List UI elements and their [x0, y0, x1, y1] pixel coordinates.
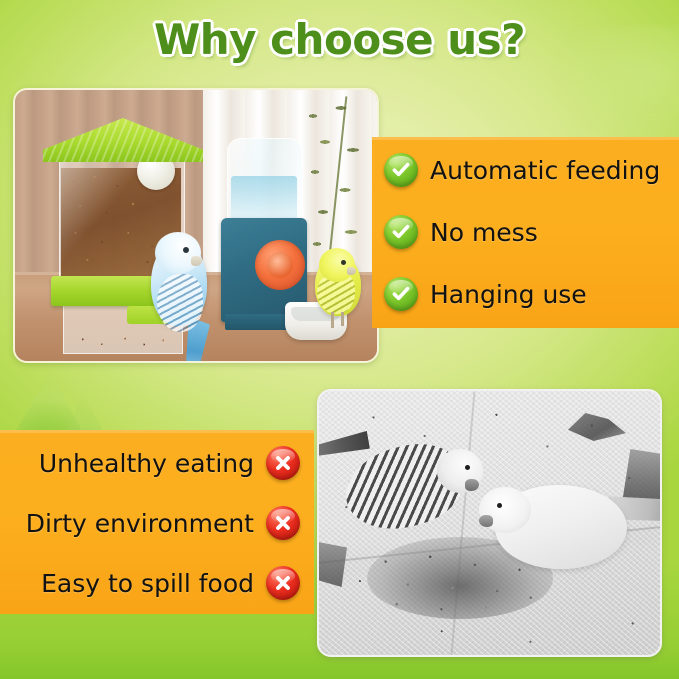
- benefit-label: No mess: [430, 218, 538, 247]
- drawback-row-dirty-environment: Dirty environment: [26, 506, 300, 540]
- white-budgie-eye: [497, 503, 502, 508]
- benefit-label: Hanging use: [430, 280, 587, 309]
- yellow-budgie-leg: [331, 312, 334, 328]
- water-dispenser-valve: [255, 240, 305, 290]
- blue-budgie-head: [155, 232, 201, 274]
- check-circle-icon: [384, 277, 418, 311]
- drawback-label: Easy to spill food: [41, 569, 254, 598]
- benefit-row-hanging-use: Hanging use: [384, 277, 587, 311]
- product-photo: [13, 88, 379, 363]
- drawbacks-panel: Unhealthy eating Dirty environment Easy …: [0, 430, 314, 614]
- striped-budgie-eye: [465, 465, 470, 470]
- vine-leaves-decoration: [297, 94, 373, 264]
- spilled-seed-photo: [317, 389, 662, 657]
- drawback-row-easy-to-spill-food: Easy to spill food: [41, 566, 300, 600]
- infographic-poster: Why choose us?: [0, 0, 679, 679]
- blue-budgie-eye: [183, 247, 189, 253]
- debris-left-edge: [317, 541, 347, 587]
- benefit-row-no-mess: No mess: [384, 215, 538, 249]
- blue-budgie-wing: [157, 274, 203, 332]
- drawback-row-unhealthy-eating: Unhealthy eating: [39, 446, 300, 480]
- yellow-budgie-eye: [341, 260, 346, 265]
- check-circle-icon: [384, 153, 418, 187]
- panel-top-highlight: [372, 137, 679, 140]
- cross-circle-icon: [266, 506, 300, 540]
- drawback-label: Dirty environment: [26, 509, 254, 538]
- cross-circle-icon: [266, 446, 300, 480]
- benefit-label: Automatic feeding: [430, 156, 660, 185]
- cross-circle-icon: [266, 566, 300, 600]
- check-circle-icon: [384, 215, 418, 249]
- page-title: Why choose us?: [0, 14, 679, 66]
- benefit-row-automatic-feeding: Automatic feeding: [384, 153, 660, 187]
- yellow-budgie-beak: [347, 267, 356, 275]
- drawback-label: Unhealthy eating: [39, 449, 254, 478]
- yellow-budgie-head: [319, 248, 355, 282]
- white-budgie-beak: [479, 515, 493, 527]
- benefits-panel: Automatic feeding No mess Hanging use: [372, 137, 679, 328]
- panel-top-highlight: [0, 430, 314, 433]
- blue-budgie-beak: [191, 256, 202, 266]
- yellow-budgie-leg-second: [341, 312, 344, 326]
